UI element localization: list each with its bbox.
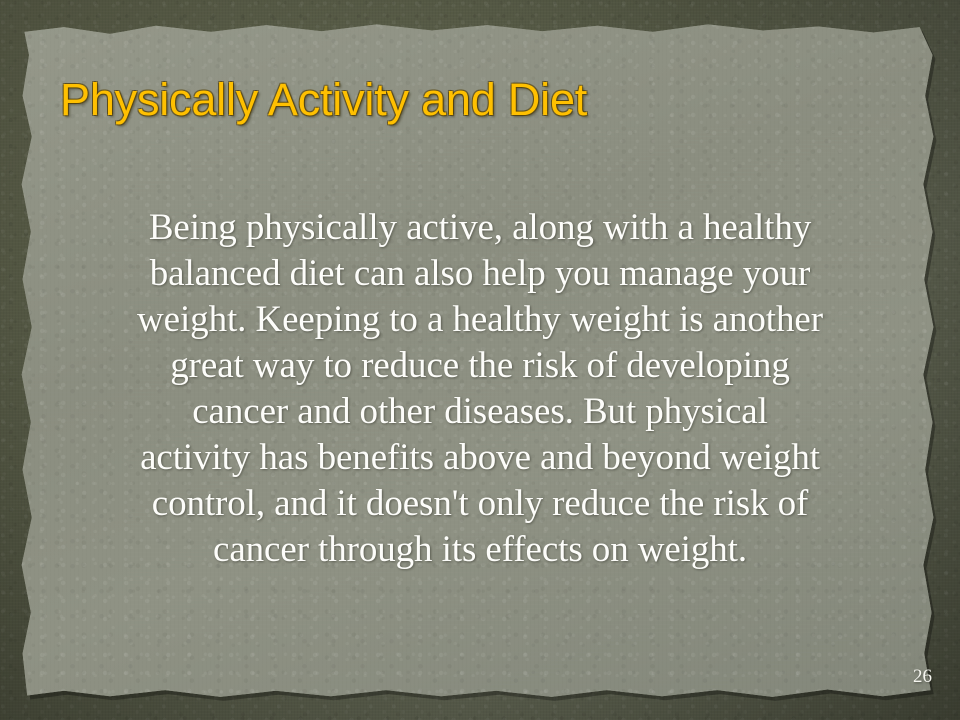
body-line: control, and it doesn't only reduce the … xyxy=(42,481,918,527)
page-number: 26 xyxy=(913,666,932,688)
body-line: Being physically active, along with a he… xyxy=(42,205,918,251)
body-line: activity has benefits above and beyond w… xyxy=(42,435,918,481)
body-line: great way to reduce the risk of developi… xyxy=(42,343,918,389)
body-line: cancer and other diseases. But physical xyxy=(42,389,918,435)
body-line: weight. Keeping to a healthy weight is a… xyxy=(42,297,918,343)
slide-content: Physically Activity and Diet Being physi… xyxy=(0,0,960,720)
slide-body-paragraph: Being physically active, along with a he… xyxy=(42,205,918,573)
body-line: cancer through its effects on weight. xyxy=(42,527,918,573)
slide-canvas: Physically Activity and Diet Being physi… xyxy=(0,0,960,720)
body-line: balanced diet can also help you manage y… xyxy=(42,251,918,297)
slide-title: Physically Activity and Diet xyxy=(60,76,900,123)
